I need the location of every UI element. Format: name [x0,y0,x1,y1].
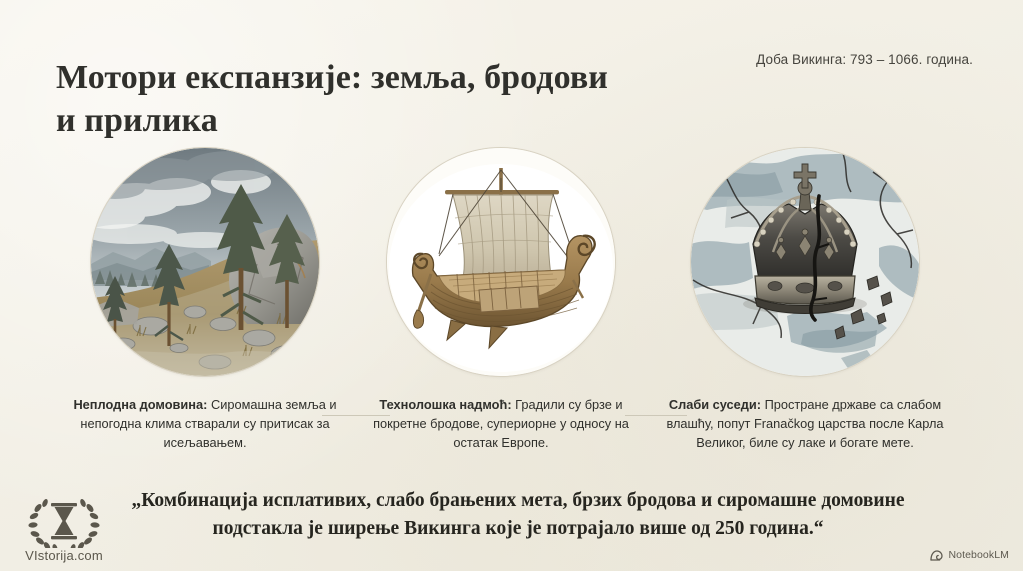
site-logo-text: VIstorija.com [8,548,120,563]
pillar-technological-superiority: Технолошка надмоћ: Градили су брзе и пок… [351,148,651,465]
era-note: Доба Викинга: 793 – 1066. година. [756,52,973,67]
rocky-landscape-illustration [91,148,319,376]
caption-lead: Неплодна домовина: [73,397,207,412]
summary-quote: „Комбинација исплативих, слабо брањених … [128,487,908,542]
pillar-caption: Неплодна домовина: Сиромашна земља и неп… [55,396,355,452]
caption-lead: Технолошка надмоћ: [379,397,511,412]
cracked-crown-map-illustration [691,148,919,376]
caption-lead: Слаби суседи: [669,397,761,412]
pillar-weak-neighbours: Слаби суседи: Простране државе са слабом… [655,148,955,465]
pillars-row: Неплодна домовина: Сиромашна земља и неп… [0,148,1023,468]
notebooklm-spiral-icon [930,550,943,561]
pillar-caption: Технолошка надмоћ: Градили су брзе и пок… [351,396,651,452]
pillar-barren-homeland: Неплодна домовина: Сиромашна земља и неп… [55,148,355,465]
page-title: Мотори експанзије: земља, бродови и прил… [56,56,616,143]
hourglass-laurel-icon [8,494,120,550]
notebooklm-brand: NotebookLM [930,549,1009,561]
pillar-caption: Слаби суседи: Простране државе са слабом… [655,396,955,452]
notebooklm-label: NotebookLM [948,549,1009,561]
viking-longship-illustration [387,148,615,376]
site-logo: VIstorija.com [8,494,120,563]
